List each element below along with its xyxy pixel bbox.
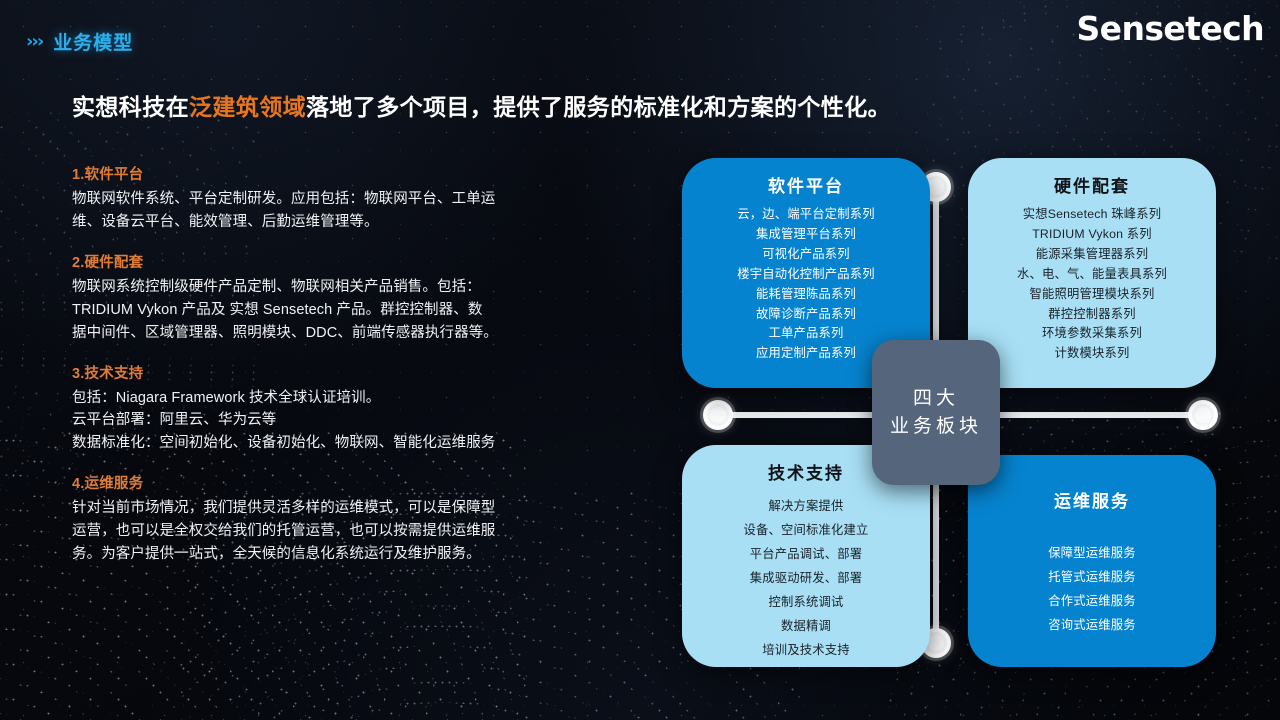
node-inner (710, 407, 726, 423)
node-right-circle (1188, 400, 1218, 430)
card-item: 托管式运维服务 (1048, 566, 1135, 590)
section-tag: ››› 业务模型 (26, 28, 133, 55)
hub-line-1: 四大 (913, 385, 959, 413)
card-item: 集成驱动研发、部署 (750, 567, 862, 591)
card-item: 楼宇自动化控制产品系列 (737, 265, 874, 285)
node-inner (928, 179, 944, 195)
headline-highlight: 泛建筑领域 (189, 94, 306, 120)
text-block-software: 1.软件平台 物联网软件系统、平台定制研发。应用包括：物联网平台、工单运 维、设… (72, 163, 572, 234)
section-tag-label: 业务模型 (53, 28, 133, 55)
card-item: 控制系统调试 (769, 591, 844, 615)
card-hardware-suite[interactable]: 硬件配套 实想Sensetech 珠峰系列 TRIDIUM Vykon 系列 能… (968, 158, 1216, 388)
block-title: 3.技术支持 (72, 362, 572, 383)
card-item: 水、电、气、能量表具系列 (1017, 265, 1167, 285)
card-item: 解决方案提供 (769, 495, 844, 519)
block-title: 4.运维服务 (72, 472, 572, 493)
card-item: 设备、空间标准化建立 (744, 519, 869, 543)
card-item: 合作式运维服务 (1048, 590, 1135, 614)
four-pillars-diagram: 软件平台 云，边、端平台定制系列 集成管理平台系列 可视化产品系列 楼宇自动化控… (660, 140, 1260, 690)
card-operations-service[interactable]: 运维服务 保障型运维服务 托管式运维服务 合作式运维服务 咨询式运维服务 (968, 455, 1216, 667)
node-inner (1195, 407, 1211, 423)
card-item: TRIDIUM Vykon 系列 (1032, 225, 1152, 245)
card-item: 能源采集管理器系列 (1036, 245, 1148, 265)
block-line: 据中间件、区域管理器、照明模块、DDC、前端传感器执行器等。 (72, 322, 572, 345)
card-title: 硬件配套 (1054, 172, 1130, 197)
block-line: 针对当前市场情况，我们提供灵活多样的运维模式，可以是保障型 (72, 497, 572, 520)
card-item: 能耗管理陈品系列 (756, 285, 856, 305)
block-title: 2.硬件配套 (72, 251, 572, 272)
card-title: 技术支持 (768, 459, 844, 484)
card-title: 软件平台 (768, 172, 844, 197)
card-item: 环境参数采集系列 (1042, 324, 1142, 344)
text-block-hardware: 2.硬件配套 物联网系统控制级硬件产品定制、物联网相关产品销售。包括： TRID… (72, 251, 572, 345)
card-item: 应用定制产品系列 (756, 344, 856, 364)
card-item: 计数模块系列 (1055, 344, 1130, 364)
brand-logo: Sensetech (1077, 9, 1264, 48)
block-line: 物联网软件系统、平台定制研发。应用包括：物联网平台、工单运 (72, 188, 572, 211)
diagram-hub: 四大 业务板块 (872, 340, 1000, 485)
block-title: 1.软件平台 (72, 163, 572, 184)
block-line: 维、设备云平台、能效管理、后勤运维管理等。 (72, 211, 572, 234)
card-item: 群控控制器系列 (1048, 305, 1135, 325)
card-item: 咨询式运维服务 (1048, 614, 1135, 638)
card-item: 平台产品调试、部署 (750, 543, 862, 567)
card-item: 集成管理平台系列 (756, 225, 856, 245)
card-item: 可视化产品系列 (762, 245, 849, 265)
chevron-right-icon: ››› (26, 33, 42, 51)
card-item: 数据精调 (781, 615, 831, 639)
headline-before: 实想科技在 (72, 94, 189, 120)
block-line: 数据标准化：空间初始化、设备初始化、物联网、智能化运维服务 (72, 432, 572, 455)
card-item: 故障诊断产品系列 (756, 305, 856, 325)
left-text-column: 1.软件平台 物联网软件系统、平台定制研发。应用包括：物联网平台、工单运 维、设… (72, 163, 572, 583)
block-line: 物联网系统控制级硬件产品定制、物联网相关产品销售。包括： (72, 276, 572, 299)
block-line: 云平台部署：阿里云、华为云等 (72, 409, 572, 432)
block-line: 包括：Niagara Framework 技术全球认证培训。 (72, 387, 572, 410)
slide-canvas: ››› 业务模型 Sensetech 实想科技在泛建筑领域落地了多个项目，提供了… (0, 0, 1280, 720)
card-item: 云，边、端平台定制系列 (737, 205, 874, 225)
node-inner (928, 635, 944, 651)
headline-after: 落地了多个项目，提供了服务的标准化和方案的个性化。 (306, 94, 891, 120)
card-title: 运维服务 (1054, 487, 1130, 512)
card-item: 保障型运维服务 (1048, 542, 1135, 566)
card-item: 工单产品系列 (769, 324, 844, 344)
text-block-operations: 4.运维服务 针对当前市场情况，我们提供灵活多样的运维模式，可以是保障型 运营，… (72, 472, 572, 566)
block-line: 运营，也可以是全权交给我们的托管运营，也可以按需提供运维服 (72, 520, 572, 543)
block-line: TRIDIUM Vykon 产品及 实想 Sensetech 产品。群控控制器、… (72, 299, 572, 322)
text-block-support: 3.技术支持 包括：Niagara Framework 技术全球认证培训。 云平… (72, 362, 572, 456)
connector-horizontal-right (968, 412, 1198, 418)
block-line: 务。为客户提供一站式，全天候的信息化系统运行及维护服务。 (72, 543, 572, 566)
page-title: 实想科技在泛建筑领域落地了多个项目，提供了服务的标准化和方案的个性化。 (72, 88, 891, 122)
card-item: 实想Sensetech 珠峰系列 (1023, 205, 1162, 225)
hub-line-2: 业务板块 (890, 413, 982, 441)
card-item: 培训及技术支持 (762, 639, 849, 663)
node-left-circle (703, 400, 733, 430)
card-item: 智能照明管理模块系列 (1030, 285, 1155, 305)
